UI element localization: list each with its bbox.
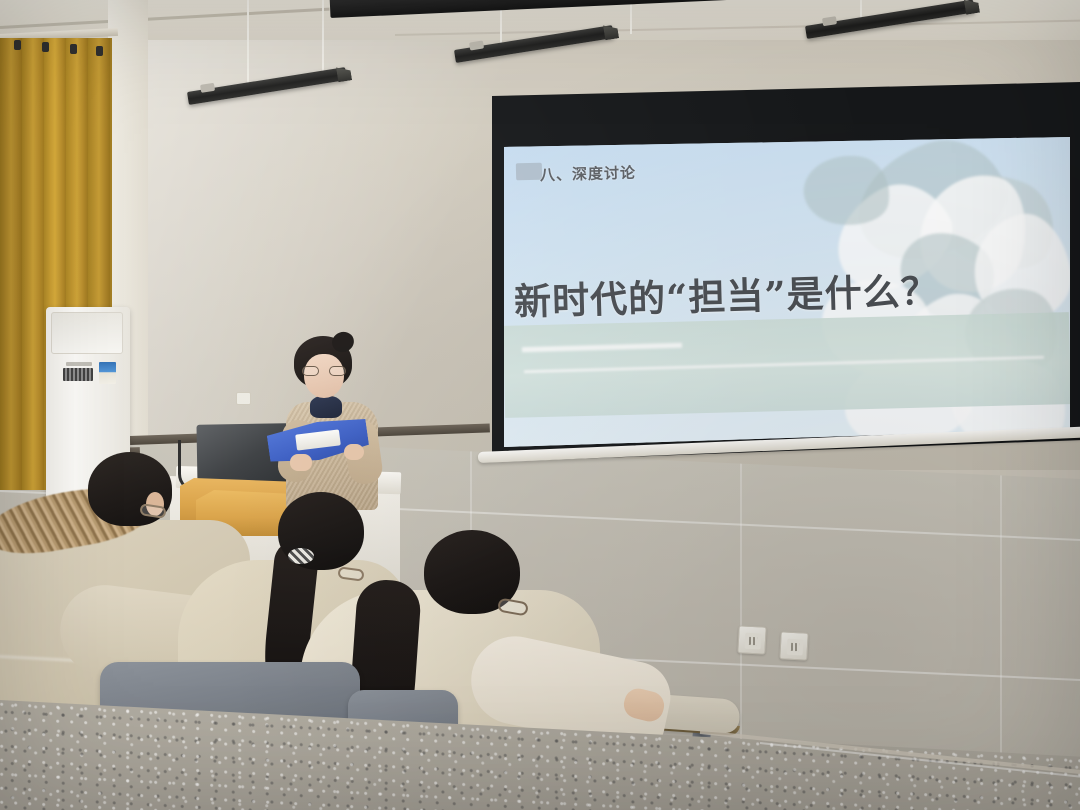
presenter-teacher bbox=[272, 336, 384, 511]
slide-section-heading: 八、深度讨论 bbox=[540, 162, 637, 186]
slide-kicker-accent bbox=[516, 163, 542, 181]
wall-outlet-right[interactable] bbox=[779, 631, 808, 660]
podium-wall-outlet[interactable] bbox=[236, 392, 251, 405]
ac-brand-mark bbox=[66, 362, 92, 366]
presenter-glasses bbox=[302, 366, 346, 376]
student-center-hair-tie bbox=[288, 548, 314, 564]
presenter-face bbox=[304, 354, 344, 398]
presenter-scarf bbox=[310, 396, 342, 418]
presenter-left-hand bbox=[290, 454, 312, 471]
ac-display-grille bbox=[63, 368, 93, 381]
classroom-photo: 八、深度讨论 新时代的“担当”是什么？ bbox=[0, 0, 1080, 810]
projected-slide: 八、深度讨论 新时代的“担当”是什么？ bbox=[504, 137, 1070, 447]
ac-energy-label bbox=[99, 362, 116, 384]
presenter-right-hand bbox=[344, 444, 364, 460]
wall-outlet-left[interactable] bbox=[737, 625, 766, 654]
ac-vent-panel bbox=[51, 312, 123, 354]
